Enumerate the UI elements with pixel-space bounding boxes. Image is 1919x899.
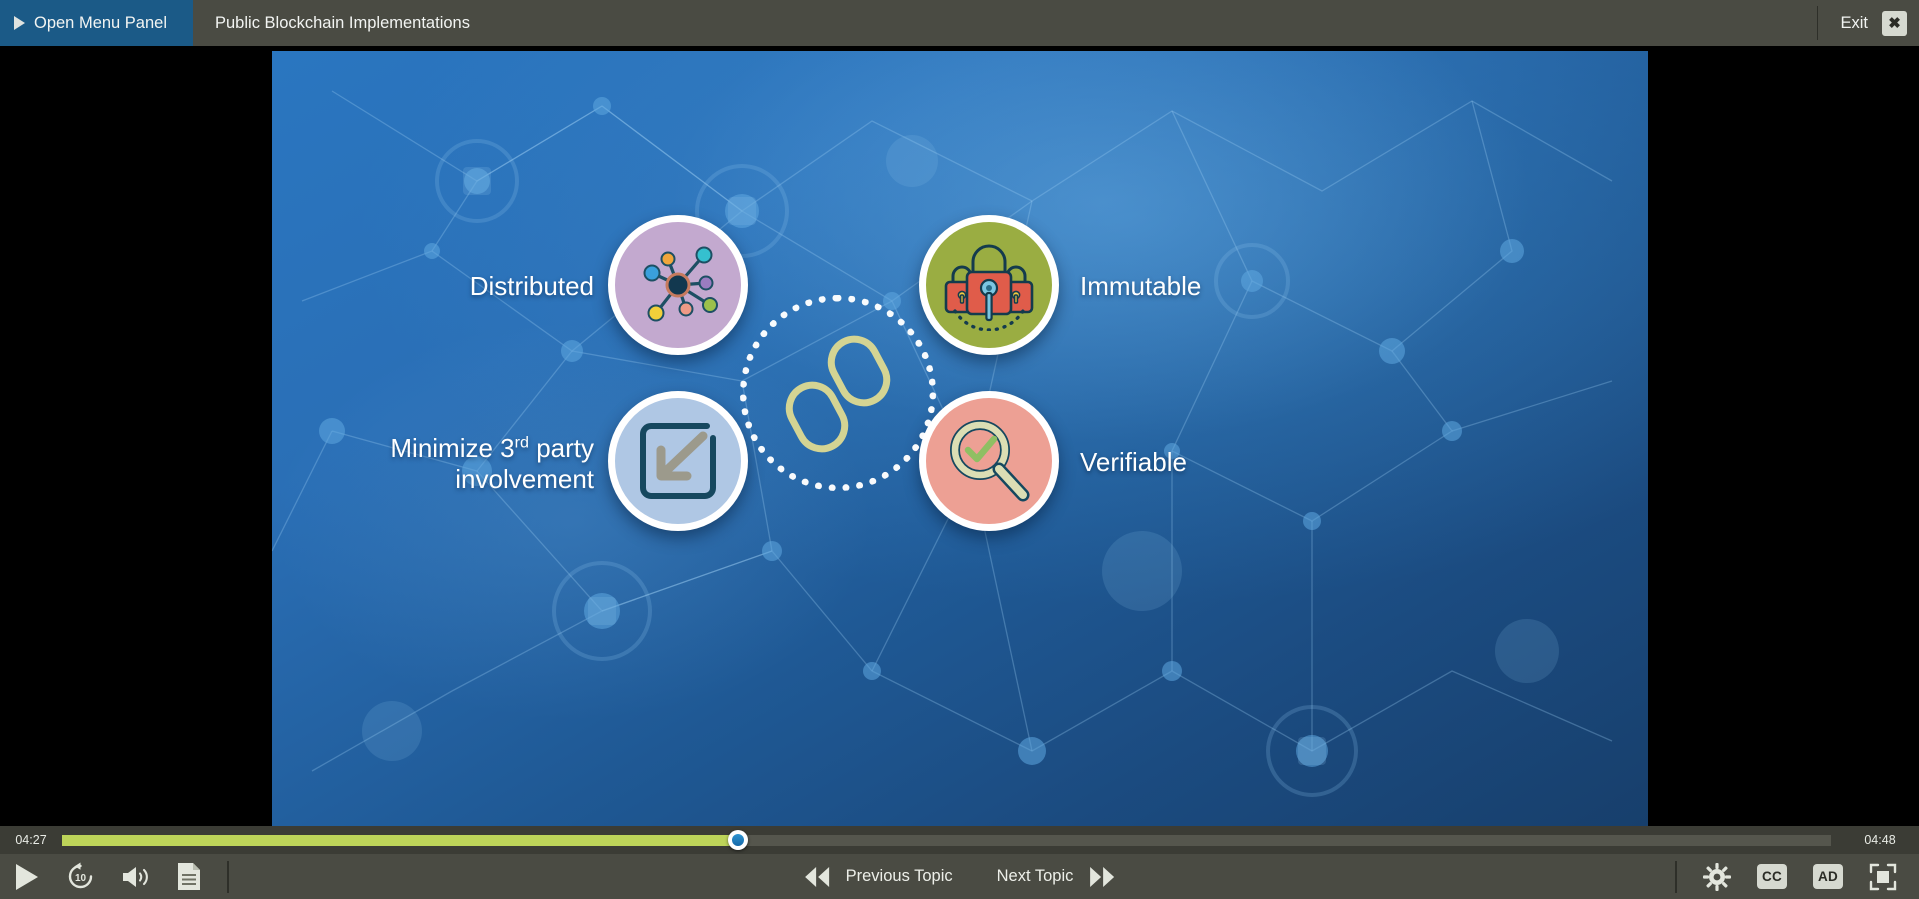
verifiable-bubble[interactable] <box>919 391 1059 531</box>
distributed-label: Distributed <box>332 271 594 302</box>
volume-button[interactable] <box>121 864 151 890</box>
top-bar: Open Menu Panel Public Blockchain Implem… <box>0 0 1919 46</box>
course-title: Public Blockchain Implementations <box>215 14 470 33</box>
double-chevron-left-icon <box>802 866 832 888</box>
control-left-divider <box>227 861 229 893</box>
progress-fill <box>62 835 738 846</box>
settings-button[interactable] <box>1703 863 1731 891</box>
next-topic-button[interactable]: Next Topic <box>997 866 1118 888</box>
minimize-third-party-label: Minimize 3rd party involvement <box>312 433 594 494</box>
course-player-window: Open Menu Panel Public Blockchain Implem… <box>0 0 1919 899</box>
magnifier-check-icon <box>943 415 1035 507</box>
exit-button[interactable]: Exit <box>1840 14 1868 33</box>
scrubber-row: 04:27 04:48 <box>0 826 1919 854</box>
control-bar: 10 <box>0 854 1919 899</box>
previous-topic-label: Previous Topic <box>846 867 953 886</box>
speaker-icon <box>121 864 151 890</box>
open-menu-panel-button[interactable]: Open Menu Panel <box>0 0 193 46</box>
minimize-line1-head: Minimize 3 <box>390 433 514 463</box>
audio-description-button[interactable]: AD <box>1813 864 1843 889</box>
gear-icon <box>1703 863 1731 891</box>
center-chain-group <box>740 295 936 491</box>
progress-track[interactable] <box>62 835 1831 846</box>
document-icon <box>177 862 201 891</box>
play-icon <box>14 862 40 892</box>
verifiable-label: Verifiable <box>1080 447 1187 478</box>
play-button[interactable] <box>14 862 40 892</box>
fullscreen-button[interactable] <box>1869 863 1897 891</box>
closed-captions-button[interactable]: CC <box>1757 864 1787 889</box>
open-menu-panel-label: Open Menu Panel <box>34 14 167 33</box>
minimize-line1-tail: party <box>529 433 594 463</box>
svg-text:10: 10 <box>75 873 87 884</box>
control-right-divider <box>1675 861 1677 893</box>
immutable-bubble[interactable] <box>919 215 1059 355</box>
top-bar-divider <box>1817 6 1818 40</box>
control-bar-right-group: CC AD <box>1675 861 1919 893</box>
minimize-line2: involvement <box>455 464 594 494</box>
topic-nav-group: Previous Topic Next Topic <box>802 866 1118 888</box>
previous-topic-button[interactable]: Previous Topic <box>802 866 953 888</box>
fullscreen-icon <box>1869 863 1897 891</box>
elapsed-time: 04:27 <box>0 833 62 847</box>
distributed-bubble[interactable] <box>608 215 748 355</box>
top-bar-right-group: Exit ✖ <box>1817 0 1919 46</box>
control-bar-left-group: 10 <box>0 861 229 893</box>
double-chevron-right-icon <box>1087 866 1117 888</box>
close-icon[interactable]: ✖ <box>1882 11 1907 36</box>
rewind-10-button[interactable]: 10 <box>66 862 95 891</box>
play-triangle-icon <box>14 16 25 30</box>
chain-link-icon <box>778 328 898 458</box>
arrow-into-box-icon <box>635 418 721 504</box>
minimize-third-party-bubble[interactable] <box>608 391 748 531</box>
network-nodes-icon <box>632 239 724 331</box>
transcript-button[interactable] <box>177 862 201 891</box>
progress-handle[interactable] <box>728 830 748 850</box>
immutable-label: Immutable <box>1080 271 1201 302</box>
slide-stage: Distributed <box>0 46 1919 826</box>
minimize-ordinal-suffix: rd <box>515 433 529 451</box>
slide-canvas: Distributed <box>272 51 1648 826</box>
total-time: 04:48 <box>1841 833 1919 847</box>
replay-10-icon: 10 <box>66 862 95 891</box>
padlocks-key-icon <box>939 239 1039 331</box>
next-topic-label: Next Topic <box>997 867 1074 886</box>
